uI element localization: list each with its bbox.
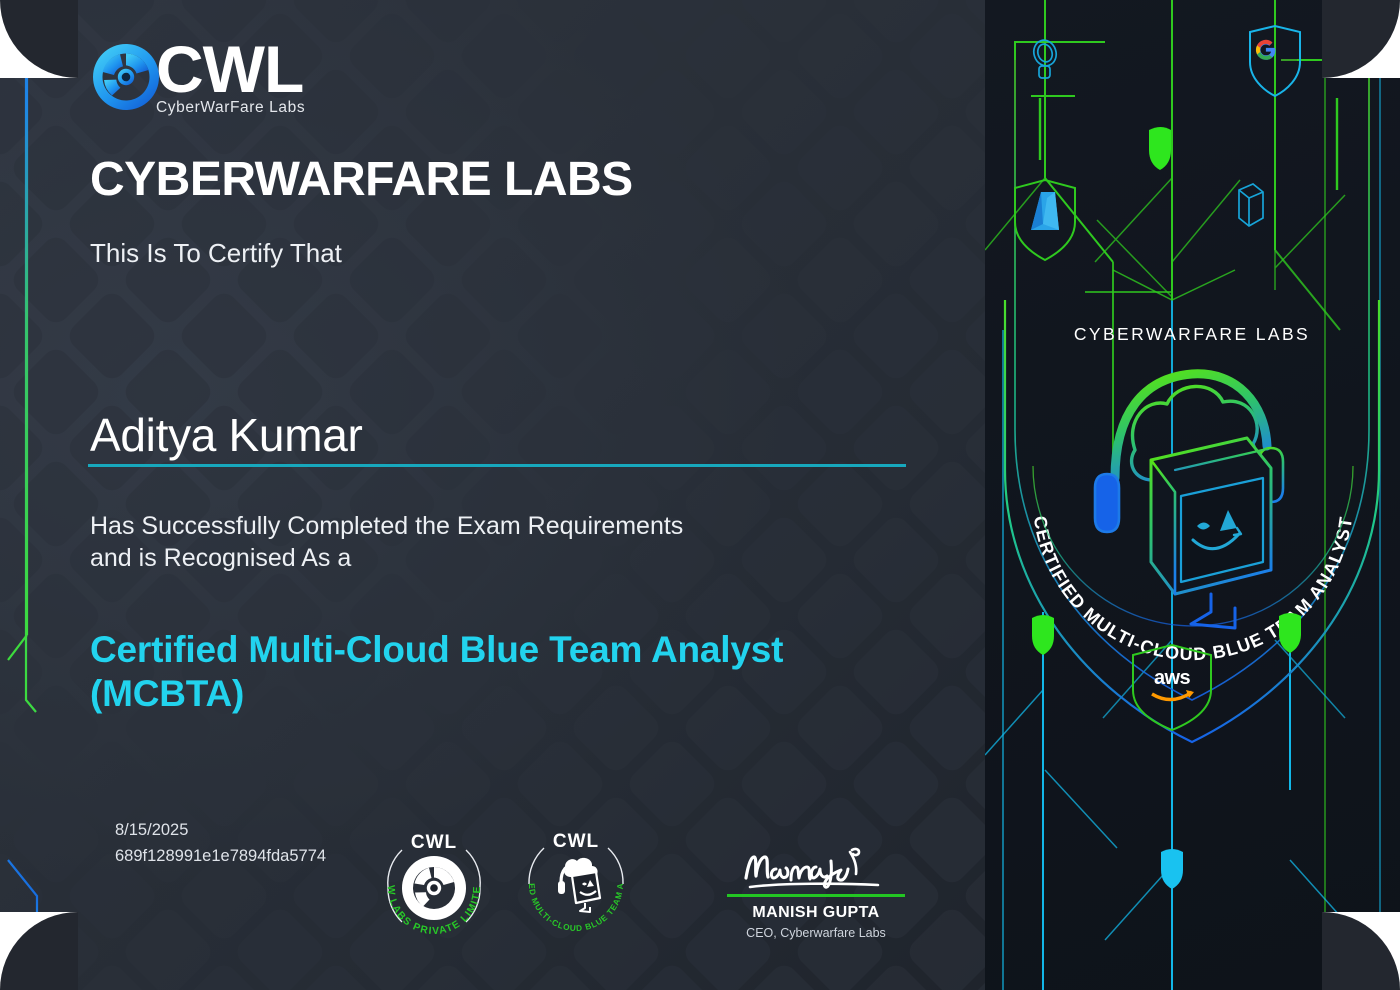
certificate-card: CWL CyberWarFare Labs CYBERWARFARE LABS … (0, 0, 1400, 990)
signature-block: Manish MANISH GUPTA CEO, Cyberwarfare La… (726, 842, 906, 940)
badge-emblem-icon (1095, 374, 1283, 628)
aws-wordmark: aws (1154, 667, 1190, 689)
certify-statement: This Is To Certify That (90, 238, 342, 269)
solid-cyan-shield-icon: > (1161, 849, 1183, 889)
corner-bottom-right (1322, 912, 1400, 990)
certification-badge: CYBERWARFARE LABS CERTIFIED MULTI-CLOUD … (1005, 300, 1379, 742)
seal-2-top-text: CWL (553, 831, 599, 852)
corner-top-right (1322, 0, 1400, 78)
seal-2-emblem-icon (558, 858, 600, 912)
signature-divider (727, 894, 905, 897)
seal-cw-labs-private-limited: CWL CW LABS PRIVATE LIMITED (372, 826, 496, 950)
credential-title-line-2: (MCBTA) (90, 672, 783, 716)
recipient-name-underline (88, 464, 906, 467)
solid-green-shield-icon (1149, 127, 1171, 170)
badge-top-label: CYBERWARFARE LABS (1074, 324, 1310, 344)
certificate-right-panel: CYBERWARFARE LABS CERTIFIED MULTI-CLOUD … (985, 0, 1400, 990)
organization-title: CYBERWARFARE LABS (90, 152, 633, 207)
seal-certified-mcbta: CWL CERTIFIED MULTI-CLOUD BLUE TEAM ANAL… (514, 826, 638, 950)
signature-handwriting: Manish (728, 842, 904, 892)
recipient-name: Aditya Kumar (90, 408, 363, 462)
signer-name: MANISH GUPTA (726, 904, 906, 922)
credential-title-line-1: Certified Multi-Cloud Blue Team Analyst (90, 628, 783, 672)
issue-date: 8/15/2025 (115, 818, 326, 844)
azure-shield-icon (1015, 180, 1075, 260)
corner-bottom-left (0, 912, 78, 990)
database-shield-icon (1239, 184, 1263, 226)
credential-title: Certified Multi-Cloud Blue Team Analyst … (90, 628, 783, 717)
certificate-metadata: 8/15/2025 689f128991e1e7894fda5774 (115, 818, 326, 869)
corner-top-left (0, 0, 78, 78)
solid-green-shield-icon-3 (1279, 613, 1301, 653)
completion-line-1: Has Successfully Completed the Exam Requ… (90, 510, 683, 542)
seal-1-top-text: CWL (411, 832, 457, 853)
completion-line-2: and is Recognised As a (90, 542, 683, 574)
tech-circuit-graphic: CYBERWARFARE LABS CERTIFIED MULTI-CLOUD … (985, 0, 1400, 990)
brand-logo: CWL CyberWarFare Labs (90, 38, 307, 117)
seals-group: CWL CW LABS PRIVATE LIMITED CWL CERT (372, 826, 638, 950)
brand-wordmark: CWL (156, 38, 307, 101)
signer-role: CEO, Cyberwarfare Labs (726, 926, 906, 940)
brand-tagline: CyberWarFare Labs (156, 99, 307, 117)
solid-green-shield-icon-2 (1032, 615, 1054, 655)
edge-accent-trace (0, 0, 130, 990)
completion-statement: Has Successfully Completed the Exam Requ… (90, 510, 683, 574)
certificate-id: 689f128991e1e7894fda5774 (115, 844, 326, 870)
cwl-circular-logo-icon (90, 41, 162, 113)
seal-1-logo-icon (402, 856, 466, 920)
